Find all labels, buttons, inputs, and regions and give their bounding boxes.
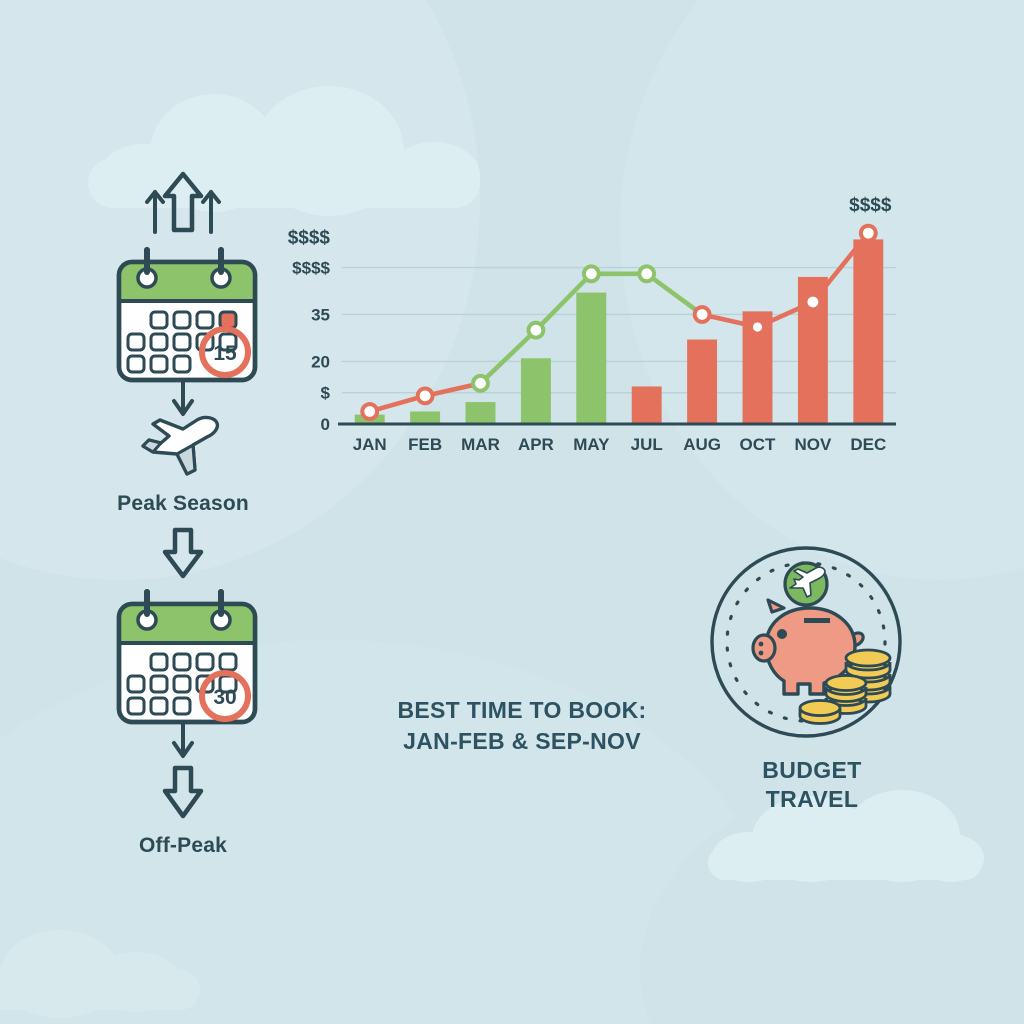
x-tick-label: MAR [461,435,500,454]
best-time-line-1: BEST TIME TO BOOK: [332,695,712,726]
x-tick-label: AUG [683,435,721,454]
calendar-offpeak-icon[interactable]: 30 [103,584,271,734]
down-arrow-hollow-2-wrap [78,764,288,820]
chart-annotation: $$$$ [849,195,892,216]
y-tick-label: 20 [311,352,330,371]
airplane-icon-wrap [78,416,288,478]
x-tick-label: NOV [794,435,832,454]
trend-point[interactable] [473,376,488,391]
x-tick-label: OCT [740,435,777,454]
budget-travel-label: BUDGET TRAVEL [706,756,918,815]
calendar-peak-icon[interactable]: 15 [103,242,271,392]
big-down-arrow-icon [158,764,208,820]
seasonality-flow-column: 15 Peak Season [78,170,288,858]
calendar-offpeak-date: 30 [213,686,236,709]
piggy-bank-icon [706,542,906,742]
chart-bar[interactable] [853,239,883,424]
budget-label-line-1: BUDGET [706,756,918,785]
budget-label-line-2: TRAVEL [706,785,918,814]
y-tick-label: 35 [311,305,330,324]
trend-point[interactable] [695,307,710,322]
best-time-line-2: JAN-FEB & SEP-NOV [332,726,712,757]
best-time-to-book-callout: BEST TIME TO BOOK: JAN-FEB & SEP-NOV [332,695,712,756]
trend-point[interactable] [584,266,599,281]
big-down-arrow-icon [158,526,208,580]
calendar-peak-date: 15 [213,342,237,365]
offpeak-label: Off-Peak [78,834,288,858]
trend-point[interactable] [753,322,762,331]
calendar-peak[interactable]: 15 [103,242,263,372]
triple-up-arrow-icon [133,170,233,236]
airplane-icon [135,416,231,478]
chart-bar[interactable] [576,293,606,424]
chart-bar[interactable] [466,402,496,424]
x-tick-label: DEC [850,435,886,454]
down-arrow-hollow-1-wrap [78,526,288,580]
trend-point[interactable] [418,388,433,403]
chart-bar[interactable] [687,340,717,424]
budget-travel-block: BUDGET TRAVEL [706,542,918,815]
x-tick-label: APR [518,435,554,454]
chart-bar[interactable] [632,386,662,424]
x-tick-label: FEB [408,435,442,454]
airplane-badge-icon [785,563,827,605]
trend-point[interactable] [639,266,654,281]
cloud-part [90,952,182,1012]
y-tick-label: $ [321,384,331,403]
chart-bar[interactable] [410,411,440,424]
price-seasonality-chart: 0$2035$$$$$$$$JANFEBMARAPRMAYJULAUGOCTNO… [284,196,904,476]
chart-bar[interactable] [521,358,551,424]
y-axis-top-label: $$$$ [288,228,331,249]
y-tick-label: 0 [321,415,330,434]
peak-season-label: Peak Season [78,492,288,516]
x-tick-label: JUL [631,435,663,454]
x-tick-label: JAN [353,435,387,454]
calendar-offpeak[interactable]: 30 [103,584,263,714]
trend-point[interactable] [806,295,821,310]
trend-point[interactable] [529,323,544,338]
cloud-part [918,834,984,882]
y-tick-label: $$$$ [292,259,330,278]
trend-point[interactable] [362,404,377,419]
x-tick-label: MAY [573,435,610,454]
chart-canvas: 0$2035$$$$$$$$JANFEBMARAPRMAYJULAUGOCTNO… [284,196,904,476]
trend-point[interactable] [861,226,876,241]
triple-up-arrow-icon-wrap [78,170,288,236]
trend-line-segment [647,274,702,315]
